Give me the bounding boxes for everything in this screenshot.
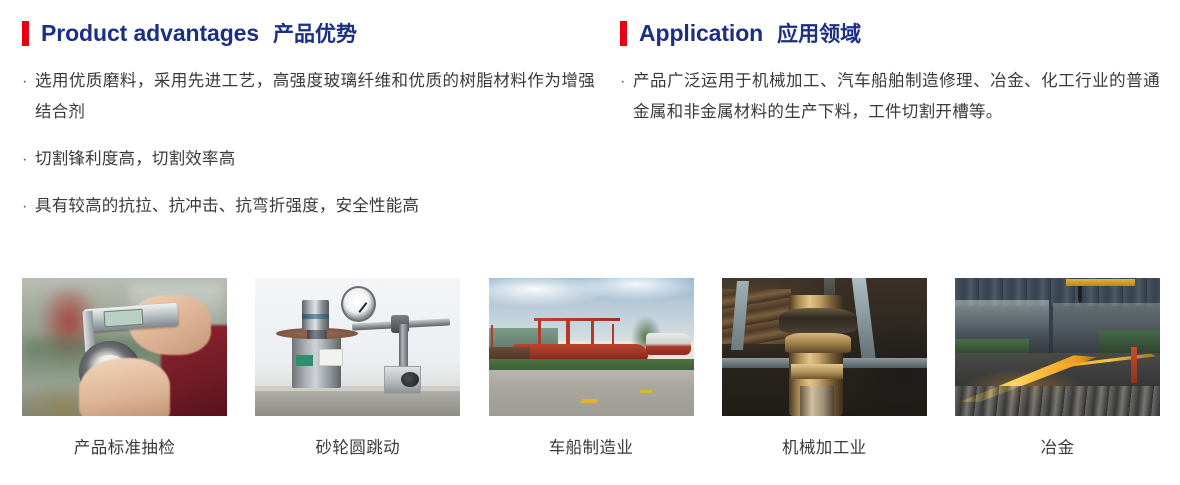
hand-shape	[79, 358, 169, 416]
machined-metal-shaft-photo	[722, 278, 927, 416]
crane-beam-shape	[534, 318, 620, 321]
gallery-item[interactable]: 冶金	[955, 278, 1160, 458]
list-item: · 产品广泛运用于机械加工、汽车船舶制造修理、冶金、化工行业的普通金属和非金属材…	[620, 66, 1160, 128]
bullet-text: 具有较高的抗拉、抗冲击、抗弯折强度，安全性能高	[35, 191, 419, 222]
section-product-advantages: Product advantages 产品优势 · 选用优质磨料，采用先进工艺，…	[0, 18, 615, 238]
shaft-tip-shape	[800, 386, 835, 416]
heading-chinese-title: 应用领域	[777, 18, 861, 48]
road-marking-shape	[640, 390, 653, 393]
list-item: · 具有较高的抗拉、抗冲击、抗弯折强度，安全性能高	[22, 191, 595, 222]
section-application: Application 应用领域 · 产品广泛运用于机械加工、汽车船舶制造修理、…	[615, 18, 1180, 238]
gallery-item[interactable]: 机械加工业	[722, 278, 927, 458]
heading-accent-bar-icon	[620, 21, 627, 46]
gallery-caption: 机械加工业	[722, 434, 927, 458]
road-marking-shape	[580, 399, 598, 403]
heading-english-title: Product advantages	[41, 20, 259, 47]
caliper-measuring-cutting-disc-photo	[22, 278, 227, 416]
list-item: · 选用优质磨料，采用先进工艺，高强度玻璃纤维和优质的树脂材料作为增强结合剂	[22, 66, 595, 128]
content-columns: Product advantages 产品优势 · 选用优质磨料，采用先进工艺，…	[0, 0, 1180, 238]
section-heading-product-advantages: Product advantages 产品优势	[22, 18, 595, 48]
gantry-crane-shape	[491, 325, 494, 350]
photo-gallery: 产品标准抽检 砂轮圆跳动	[22, 278, 1160, 458]
gallery-item[interactable]: 砂轮圆跳动	[255, 278, 460, 458]
steel-rolling-mill-photo	[955, 278, 1160, 416]
gallery-caption: 产品标准抽检	[22, 434, 227, 458]
green-tag-shape	[296, 355, 312, 366]
heading-english-title: Application	[639, 20, 763, 47]
roller-table-shape	[955, 386, 1160, 416]
dial-indicator-wheel-runout-photo	[255, 278, 460, 416]
second-vessel-shape	[646, 333, 691, 355]
list-item: · 切割锋利度高，切割效率高	[22, 144, 595, 175]
shaft-collar-shape	[785, 333, 851, 352]
gallery-caption: 冶金	[955, 434, 1160, 458]
red-post-shape	[1131, 347, 1137, 383]
shaft-collar-shape	[791, 364, 842, 379]
shipyard-vessel-photo	[489, 278, 694, 416]
heading-chinese-title: 产品优势	[273, 18, 357, 48]
spindle-band-shape	[302, 314, 329, 320]
road-shape	[489, 370, 694, 416]
overhead-crane-shape	[1066, 279, 1136, 286]
heading-accent-bar-icon	[22, 21, 29, 46]
shaft-flange-shape	[779, 308, 857, 333]
gallery-item[interactable]: 产品标准抽检	[22, 278, 227, 458]
section-heading-application: Application 应用领域	[620, 18, 1160, 48]
gallery-caption: 车船制造业	[489, 434, 694, 458]
caliper-display-shape	[103, 308, 143, 326]
bullet-text: 选用优质磨料，采用先进工艺，高强度玻璃纤维和优质的树脂材料作为增强结合剂	[35, 66, 595, 128]
bullet-dot-icon: ·	[22, 66, 35, 97]
bullet-dot-icon: ·	[620, 66, 633, 97]
red-ship-hull-shape	[513, 344, 648, 361]
bullet-dot-icon: ·	[22, 144, 35, 175]
gallery-caption: 砂轮圆跳动	[255, 434, 460, 458]
white-label-shape	[319, 349, 344, 366]
bench-edge-shape	[255, 386, 460, 392]
dial-gauge-shape	[341, 286, 376, 322]
gallery-item[interactable]: 车船制造业	[489, 278, 694, 458]
bullet-text: 产品广泛运用于机械加工、汽车船舶制造修理、冶金、化工行业的普通金属和非金属材料的…	[633, 66, 1160, 128]
bullet-dot-icon: ·	[22, 191, 35, 222]
crane-hook-icon	[1078, 286, 1082, 303]
bullet-text: 切割锋利度高，切割效率高	[35, 144, 235, 175]
